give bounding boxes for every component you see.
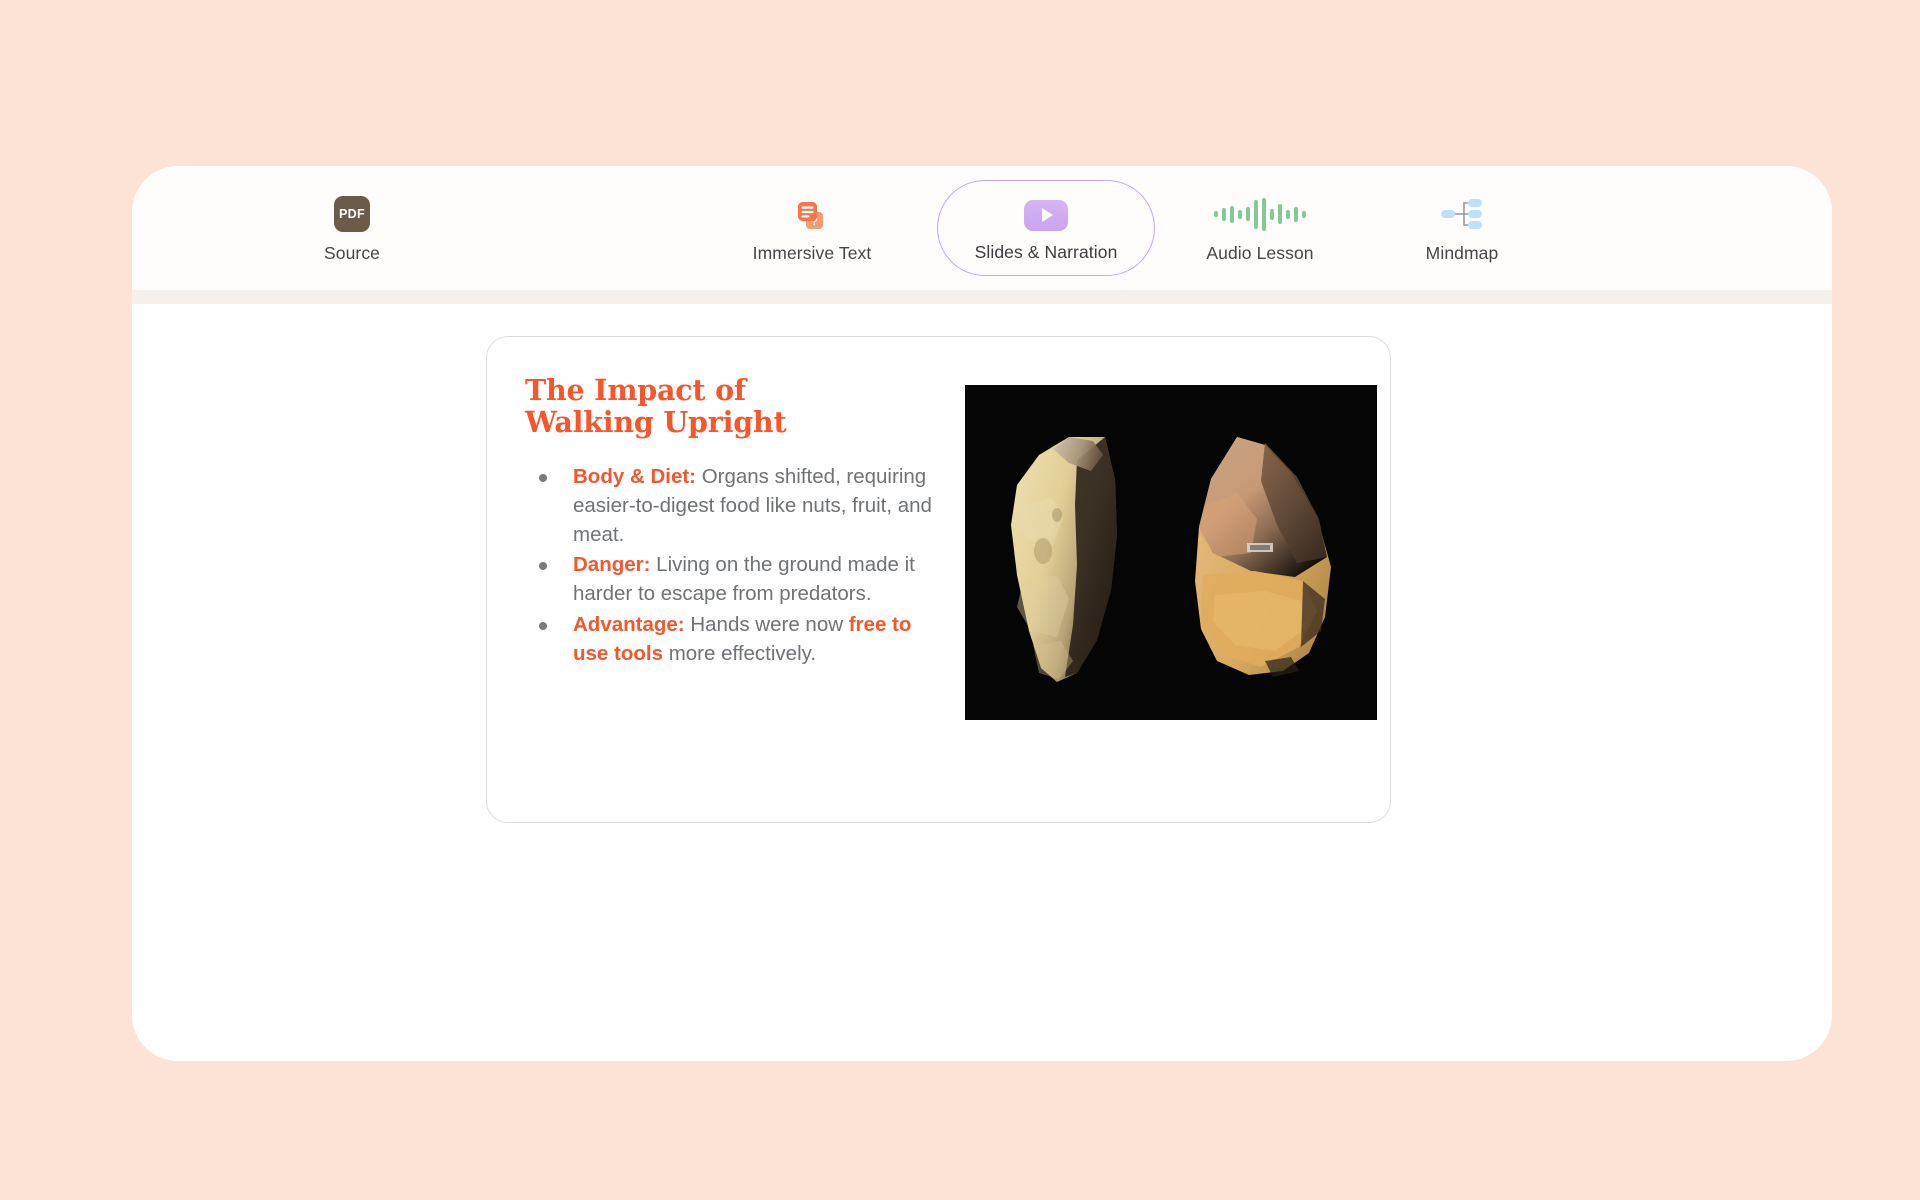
header-separator bbox=[132, 290, 1832, 304]
slide-bullet-3-text-after: more effectively. bbox=[663, 642, 816, 665]
tab-source[interactable]: PDF Source bbox=[282, 166, 422, 290]
slide-image-stone-tools bbox=[965, 385, 1377, 720]
audio-waveform-icon bbox=[1214, 193, 1307, 235]
slide-bullet-1: Body & Diet: Organs shifted, requiring e… bbox=[525, 463, 945, 550]
tab-mindmap-label: Mindmap bbox=[1426, 245, 1499, 263]
slide-bullet-2-label: Danger: bbox=[573, 553, 650, 576]
tab-source-label: Source bbox=[324, 245, 380, 263]
play-video-icon bbox=[1024, 194, 1068, 236]
mindmap-branch-icon bbox=[1438, 193, 1486, 235]
slide-card: The Impact of Walking Upright Body & Die… bbox=[486, 336, 1391, 823]
pdf-file-icon: PDF bbox=[334, 193, 370, 235]
slide-title: The Impact of Walking Upright bbox=[525, 375, 855, 439]
tab-immersive-text[interactable]: ? Immersive Text bbox=[702, 166, 922, 290]
slide-text-column: The Impact of Walking Upright Body & Die… bbox=[525, 375, 945, 792]
slide-bullet-2: Danger: Living on the ground made it har… bbox=[525, 551, 945, 609]
content-area: The Impact of Walking Upright Body & Die… bbox=[132, 304, 1832, 1061]
tab-immersive-text-label: Immersive Text bbox=[753, 245, 872, 263]
tab-audio-lesson[interactable]: Audio Lesson bbox=[1150, 166, 1370, 290]
tab-bar: PDF Source ? Immersive Text Slide bbox=[132, 166, 1832, 290]
tab-audio-lesson-label: Audio Lesson bbox=[1206, 245, 1313, 263]
slide-bullet-3-text-before: Hands were now bbox=[685, 613, 849, 636]
tab-slides-narration[interactable]: Slides & Narration bbox=[937, 180, 1155, 276]
pdf-badge-label: PDF bbox=[334, 196, 370, 232]
slide-bullet-3: Advantage: Hands were now free to use to… bbox=[525, 611, 945, 669]
tab-mindmap[interactable]: Mindmap bbox=[1367, 166, 1557, 290]
slide-bullet-1-label: Body & Diet: bbox=[573, 465, 696, 488]
slide-bullet-3-label: Advantage: bbox=[573, 613, 685, 636]
tab-slides-narration-label: Slides & Narration bbox=[975, 244, 1118, 262]
slide-bullet-list: Body & Diet: Organs shifted, requiring e… bbox=[525, 463, 945, 669]
app-window: PDF Source ? Immersive Text Slide bbox=[132, 166, 1832, 1061]
document-question-icon: ? bbox=[792, 193, 832, 235]
